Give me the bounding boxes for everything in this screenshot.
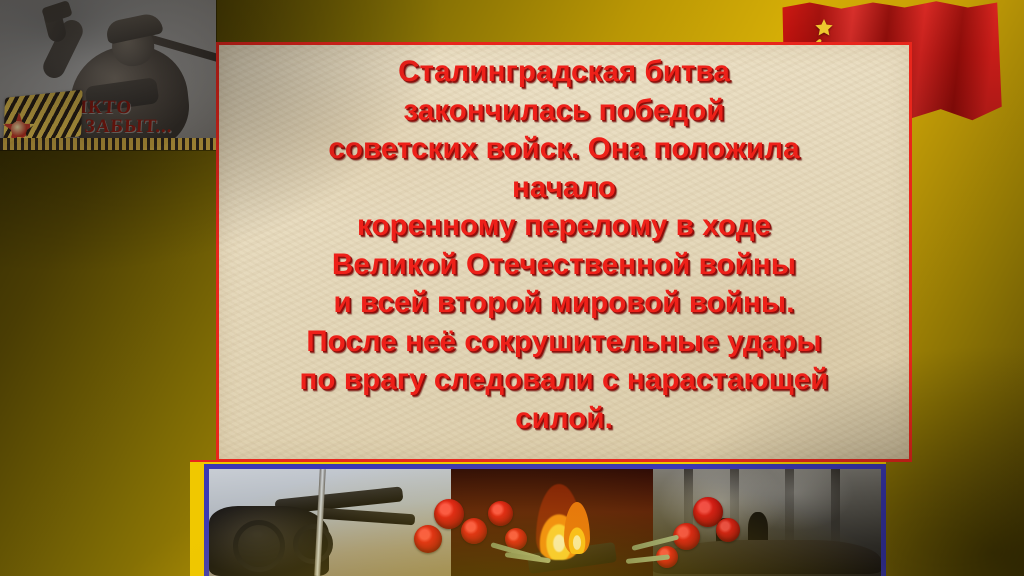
strip-frame [204, 464, 886, 576]
panel-text-block: Сталинградская битва закончилась победой… [219, 45, 909, 438]
soldier-photo: НИКТО НЕ ЗАБЫТ... [0, 0, 216, 150]
slide-background: НИКТО НЕ ЗАБЫТ... Сталинградская битва з… [0, 0, 1024, 576]
artillery-cannons-photo [209, 469, 451, 576]
content-panel: Сталинградская битва закончилась победой… [216, 42, 912, 462]
text-line-3: советских войск. Она положила [229, 130, 899, 169]
text-line-5: коренному перелому в ходе [229, 207, 899, 246]
text-line-8: После неё сокрушительные удары [229, 323, 899, 362]
flame-secondary [564, 502, 590, 554]
cannon-wheel-front [233, 520, 285, 572]
text-line-1: Сталинградская битва [229, 53, 899, 92]
text-line-10: силой. [229, 400, 899, 439]
cannon-wheel-rear [293, 524, 333, 564]
fallen-log [653, 540, 882, 574]
bottom-photo-strip [190, 462, 886, 576]
text-line-4: начало [229, 169, 899, 208]
order-center-icon [11, 121, 27, 137]
soldiers-in-forest-photo [653, 469, 882, 576]
text-line-9: по врагу следовали с нарастающей [229, 361, 899, 400]
eternal-flame-photo [451, 469, 653, 576]
text-line-2: закончилась победой [229, 92, 899, 131]
photo-ribbon-band [0, 138, 216, 150]
cannon-barrel-second [319, 508, 416, 526]
text-line-7: и всей второй мировой войны. [229, 284, 899, 323]
text-line-6: Великой Отечественной войны [229, 246, 899, 285]
